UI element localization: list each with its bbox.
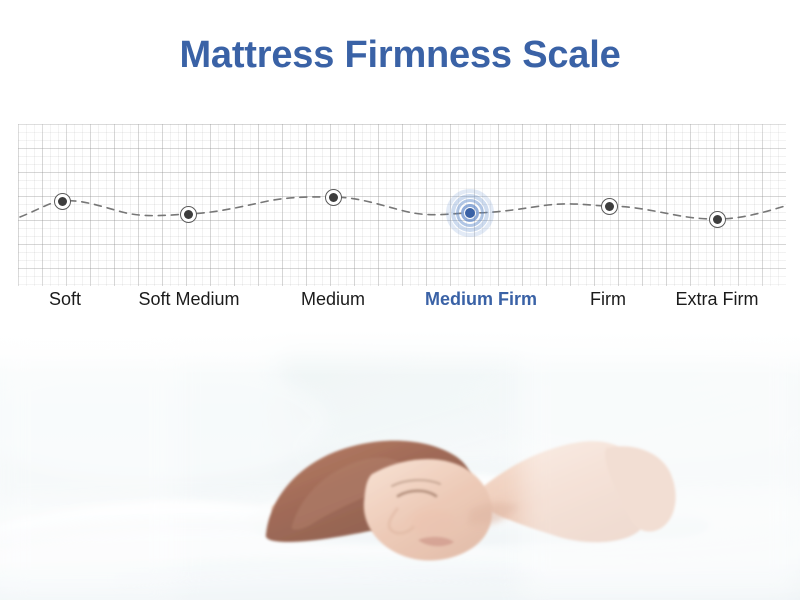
marker-dot <box>329 193 338 202</box>
firmness-scale-panel: Soft Soft Medium Medium Medium Firm Firm… <box>0 110 800 330</box>
marker-dot-active <box>465 208 475 218</box>
mattress-firmness-scale-page: Mattress Firmness Scale <box>0 0 800 600</box>
firmness-wave-line <box>0 110 800 300</box>
sleeping-woman-photo <box>0 330 800 600</box>
scale-label-soft[interactable]: Soft <box>49 288 81 310</box>
page-title: Mattress Firmness Scale <box>0 33 800 77</box>
marker-dot <box>605 202 614 211</box>
scale-label-medium-firm[interactable]: Medium Firm <box>425 288 537 310</box>
photo-illustration <box>0 330 800 600</box>
marker-dot <box>713 215 722 224</box>
scale-label-soft-medium[interactable]: Soft Medium <box>138 288 239 310</box>
scale-label-firm[interactable]: Firm <box>590 288 626 310</box>
marker-dot <box>184 210 193 219</box>
scale-label-extra-firm[interactable]: Extra Firm <box>676 288 759 310</box>
scale-label-medium[interactable]: Medium <box>301 288 365 310</box>
marker-dot <box>58 197 67 206</box>
